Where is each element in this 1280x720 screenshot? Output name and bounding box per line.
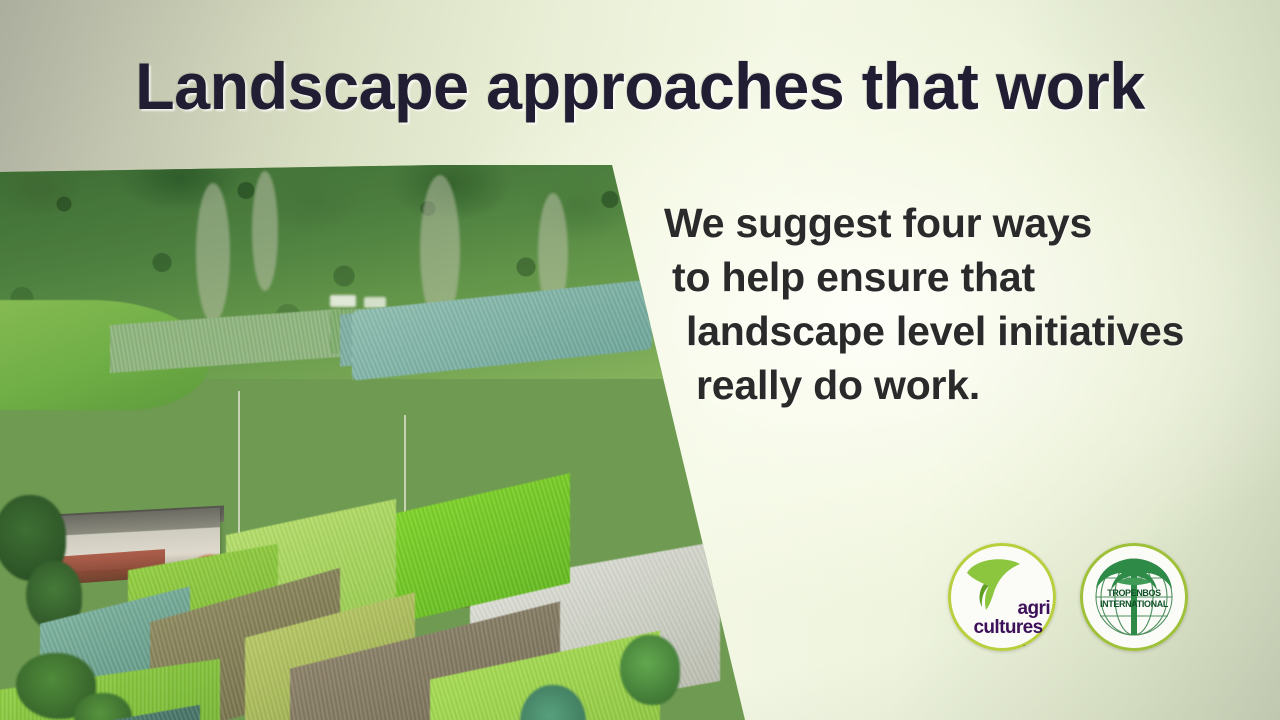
body-text: We suggest four ways to help ensure that… [648, 196, 1248, 412]
photo-tree [620, 635, 680, 705]
photo-bare-tree [196, 183, 230, 323]
page-title: Landscape approaches that work [13, 48, 1267, 124]
agricultures-line-3: NETWORK [962, 637, 1054, 651]
logo-row: agri cultures NETWORK TROPENBOS INT [948, 543, 1218, 655]
agricultures-wordmark: agri cultures NETWORK [962, 599, 1054, 651]
slide-canvas: Landscape approaches that work [0, 0, 1280, 720]
agricultures-logo: agri cultures NETWORK [948, 543, 1056, 651]
agricultures-line-2: cultures [962, 618, 1054, 637]
photo-distant-building [364, 297, 386, 308]
body-line-4: really do work. [648, 358, 1248, 412]
photo-distant-building [330, 295, 356, 307]
body-line-3: landscape level initiatives [648, 304, 1248, 358]
tropenbos-wordmark: TROPENBOS INTERNATIONAL [1083, 588, 1185, 610]
tropenbos-international-logo: TROPENBOS INTERNATIONAL [1080, 543, 1188, 651]
body-line-1: We suggest four ways [648, 196, 1248, 250]
photo-bare-tree [252, 171, 278, 291]
body-line-2: to help ensure that [648, 250, 1248, 304]
agricultures-line-1: agri [962, 599, 1054, 618]
